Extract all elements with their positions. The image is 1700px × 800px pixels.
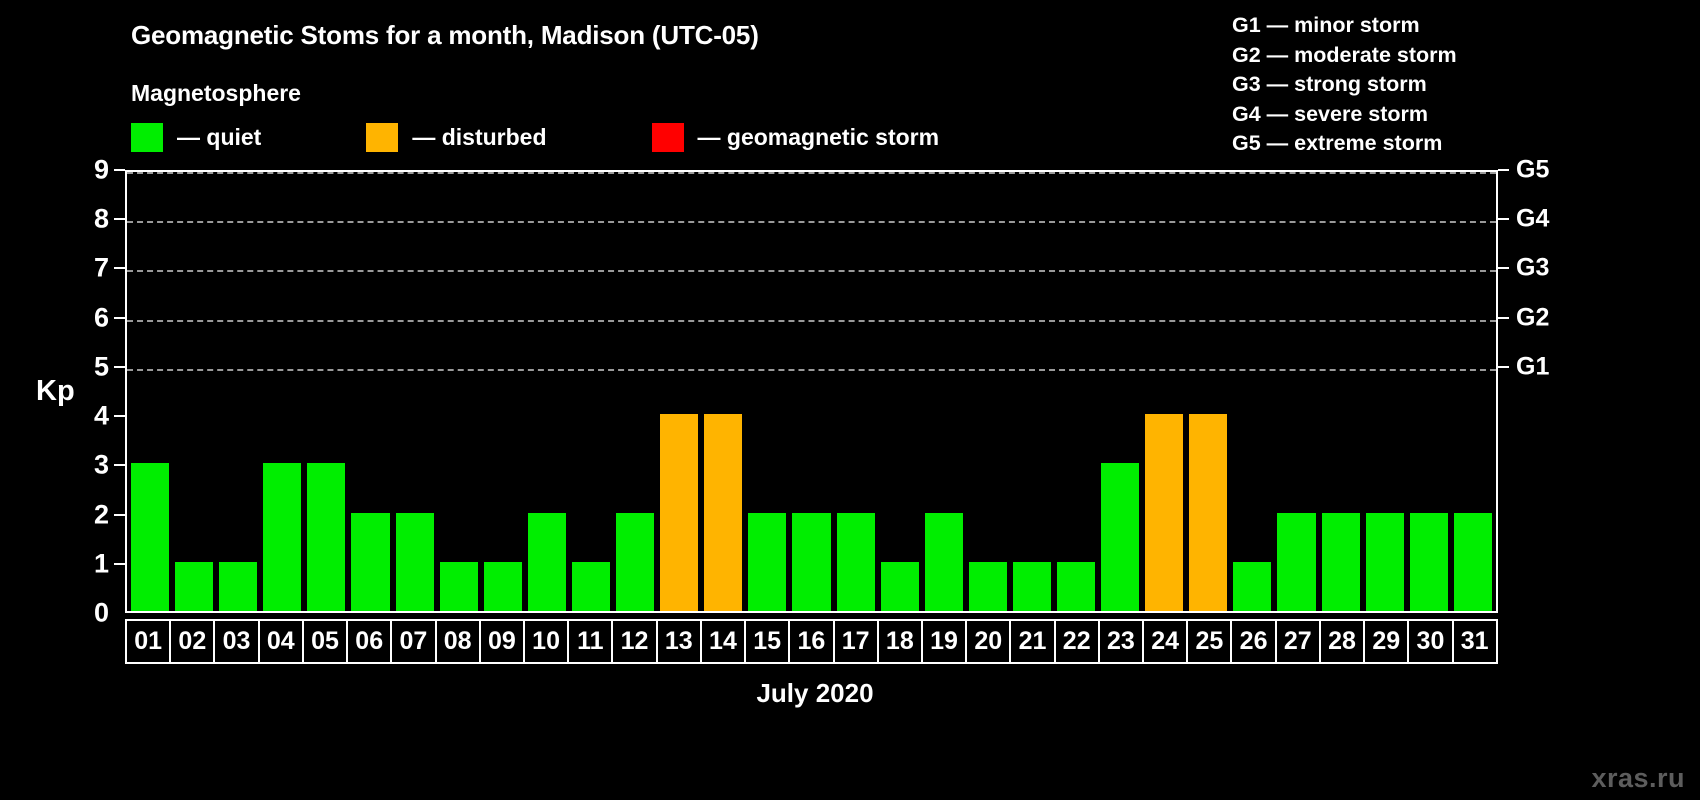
bar-slot	[348, 172, 392, 611]
g-tick-label-G3: G3	[1516, 254, 1549, 283]
bar-slot	[789, 172, 833, 611]
y-tick-mark-6	[114, 317, 125, 319]
g-scale-line-4: G4 — severe storm	[1232, 100, 1457, 130]
g-tick-mark-G2	[1498, 317, 1509, 319]
bar-day-27[interactable]	[1277, 513, 1315, 611]
bars-layer	[127, 172, 1496, 611]
legend-header: Magnetosphere	[131, 80, 301, 107]
g-scale-legend: G1 — minor stormG2 — moderate stormG3 — …	[1232, 11, 1457, 159]
y-tick-label-7: 7	[69, 253, 109, 284]
bar-slot	[260, 172, 304, 611]
legend-item-quiet[interactable]: — quiet	[131, 123, 261, 152]
bar-day-11[interactable]	[572, 562, 610, 611]
g-scale-line-1: G1 — minor storm	[1232, 11, 1457, 41]
bar-slot	[834, 172, 878, 611]
bar-day-07[interactable]	[396, 513, 434, 611]
x-axis-day-27[interactable]: 27	[1277, 621, 1321, 662]
y-tick-mark-4	[114, 415, 125, 417]
x-axis-day-05[interactable]: 05	[304, 621, 348, 662]
bar-day-22[interactable]	[1057, 562, 1095, 611]
bar-day-21[interactable]	[1013, 562, 1051, 611]
bar-day-20[interactable]	[969, 562, 1007, 611]
x-axis-day-30[interactable]: 30	[1409, 621, 1453, 662]
g-scale-line-3: G3 — strong storm	[1232, 70, 1457, 100]
bar-slot	[1363, 172, 1407, 611]
bar-slot	[393, 172, 437, 611]
y-tick-label-1: 1	[69, 548, 109, 579]
y-tick-mark-8	[114, 218, 125, 220]
bar-slot	[304, 172, 348, 611]
bar-day-13[interactable]	[660, 414, 698, 611]
g-tick-mark-G3	[1498, 267, 1509, 269]
x-axis-day-28[interactable]: 28	[1321, 621, 1365, 662]
x-axis-day-23[interactable]: 23	[1100, 621, 1144, 662]
x-axis-day-16[interactable]: 16	[790, 621, 834, 662]
bar-day-14[interactable]	[704, 414, 742, 611]
legend-label-quiet: — quiet	[177, 124, 261, 151]
bar-slot	[437, 172, 481, 611]
y-tick-label-8: 8	[69, 204, 109, 235]
bar-day-04[interactable]	[263, 463, 301, 611]
x-axis-day-09[interactable]: 09	[481, 621, 525, 662]
bar-day-28[interactable]	[1322, 513, 1360, 611]
y-tick-mark-9	[114, 169, 125, 171]
x-axis-day-19[interactable]: 19	[923, 621, 967, 662]
y-tick-mark-7	[114, 267, 125, 269]
bar-day-06[interactable]	[351, 513, 389, 611]
x-axis-day-14[interactable]: 14	[702, 621, 746, 662]
bar-day-25[interactable]	[1189, 414, 1227, 611]
bar-slot	[1010, 172, 1054, 611]
bar-slot	[569, 172, 613, 611]
y-tick-mark-2	[114, 514, 125, 516]
legend-swatch-disturbed-icon	[366, 123, 398, 152]
g-axis-tick-labels: G1G2G3G4G5	[1516, 170, 1586, 613]
bar-slot	[613, 172, 657, 611]
bar-day-08[interactable]	[440, 562, 478, 611]
bar-day-24[interactable]	[1145, 414, 1183, 611]
x-axis-day-22[interactable]: 22	[1056, 621, 1100, 662]
g-tick-mark-G4	[1498, 218, 1509, 220]
bar-slot	[1230, 172, 1274, 611]
bar-day-17[interactable]	[837, 513, 875, 611]
bar-day-12[interactable]	[616, 513, 654, 611]
g-scale-line-2: G2 — moderate storm	[1232, 41, 1457, 71]
bar-slot	[878, 172, 922, 611]
x-axis-day-cells: 0102030405060708091011121314151617181920…	[125, 619, 1498, 664]
x-axis-day-08[interactable]: 08	[437, 621, 481, 662]
legend-label-storm: — geomagnetic storm	[698, 124, 940, 151]
x-axis-day-13[interactable]: 13	[658, 621, 702, 662]
bar-day-23[interactable]	[1101, 463, 1139, 611]
legend-swatch-storm-icon	[652, 123, 684, 152]
g-tick-label-G2: G2	[1516, 303, 1549, 332]
x-axis-day-15[interactable]: 15	[746, 621, 790, 662]
bar-slot	[657, 172, 701, 611]
page-title: Geomagnetic Stoms for a month, Madison (…	[131, 20, 759, 51]
bar-day-29[interactable]	[1366, 513, 1404, 611]
bar-slot	[1054, 172, 1098, 611]
x-axis-day-26[interactable]: 26	[1232, 621, 1276, 662]
g-tick-label-G4: G4	[1516, 205, 1549, 234]
bar-slot	[1451, 172, 1495, 611]
g-tick-mark-G5	[1498, 169, 1509, 171]
legend-swatch-quiet-icon	[131, 123, 163, 152]
plot-area	[125, 170, 1498, 613]
legend: — quiet — disturbed — geomagnetic storm	[131, 123, 939, 152]
x-axis-day-29[interactable]: 29	[1365, 621, 1409, 662]
legend-item-disturbed[interactable]: — disturbed	[366, 123, 546, 152]
g-scale-line-5: G5 — extreme storm	[1232, 129, 1457, 159]
bar-slot	[1142, 172, 1186, 611]
bar-slot	[525, 172, 569, 611]
bar-slot	[128, 172, 172, 611]
x-axis-day-03[interactable]: 03	[215, 621, 259, 662]
x-axis-day-17[interactable]: 17	[835, 621, 879, 662]
bar-day-02[interactable]	[175, 562, 213, 611]
bar-slot	[1098, 172, 1142, 611]
plot-inner	[127, 172, 1496, 611]
bar-slot	[216, 172, 260, 611]
g-tick-label-G5: G5	[1516, 156, 1549, 185]
x-axis-day-21[interactable]: 21	[1011, 621, 1055, 662]
x-axis-day-31[interactable]: 31	[1454, 621, 1498, 662]
x-axis-title: July 2020	[0, 678, 1630, 709]
x-axis-day-02[interactable]: 02	[171, 621, 215, 662]
x-axis-day-06[interactable]: 06	[348, 621, 392, 662]
bar-slot	[481, 172, 525, 611]
y-tick-label-5: 5	[69, 351, 109, 382]
x-axis-day-25[interactable]: 25	[1188, 621, 1232, 662]
bar-slot	[966, 172, 1010, 611]
g-axis-tick-marks	[1498, 170, 1510, 613]
bar-day-19[interactable]	[925, 513, 963, 611]
watermark: xras.ru	[1591, 763, 1685, 794]
legend-item-storm[interactable]: — geomagnetic storm	[652, 123, 940, 152]
chart-root: Geomagnetic Stoms for a month, Madison (…	[0, 0, 1700, 800]
x-axis-day-04[interactable]: 04	[260, 621, 304, 662]
y-tick-label-3: 3	[69, 450, 109, 481]
y-tick-mark-3	[114, 464, 125, 466]
bar-slot	[1319, 172, 1363, 611]
bar-day-09[interactable]	[484, 562, 522, 611]
bar-slot	[1274, 172, 1318, 611]
bar-slot	[922, 172, 966, 611]
bar-day-01[interactable]	[131, 463, 169, 611]
bar-day-15[interactable]	[748, 513, 786, 611]
bar-slot	[172, 172, 216, 611]
bar-slot	[701, 172, 745, 611]
g-tick-label-G1: G1	[1516, 352, 1549, 381]
y-tick-label-2: 2	[69, 499, 109, 530]
x-axis-day-10[interactable]: 10	[525, 621, 569, 662]
bar-day-31[interactable]	[1454, 513, 1492, 611]
x-axis-day-01[interactable]: 01	[127, 621, 171, 662]
bar-day-16[interactable]	[792, 513, 830, 611]
x-axis-day-20[interactable]: 20	[967, 621, 1011, 662]
y-tick-mark-1	[114, 563, 125, 565]
y-tick-label-6: 6	[69, 302, 109, 333]
bar-day-10[interactable]	[528, 513, 566, 611]
x-axis-day-18[interactable]: 18	[879, 621, 923, 662]
y-tick-label-4: 4	[69, 401, 109, 432]
y-tick-label-0: 0	[69, 598, 109, 629]
x-axis-day-11[interactable]: 11	[569, 621, 613, 662]
bar-day-26[interactable]	[1233, 562, 1271, 611]
bar-slot	[1407, 172, 1451, 611]
y-tick-label-9: 9	[69, 155, 109, 186]
bar-slot	[745, 172, 789, 611]
g-tick-mark-G1	[1498, 366, 1509, 368]
x-axis-day-07[interactable]: 07	[392, 621, 436, 662]
bar-day-03[interactable]	[219, 562, 257, 611]
bar-day-18[interactable]	[881, 562, 919, 611]
x-axis-day-12[interactable]: 12	[613, 621, 657, 662]
bar-day-05[interactable]	[307, 463, 345, 611]
legend-label-disturbed: — disturbed	[412, 124, 546, 151]
y-tick-mark-5	[114, 366, 125, 368]
x-axis-day-24[interactable]: 24	[1144, 621, 1188, 662]
bar-day-30[interactable]	[1410, 513, 1448, 611]
bar-slot	[1186, 172, 1230, 611]
y-axis-tick-labels: 0123456789	[65, 170, 109, 613]
